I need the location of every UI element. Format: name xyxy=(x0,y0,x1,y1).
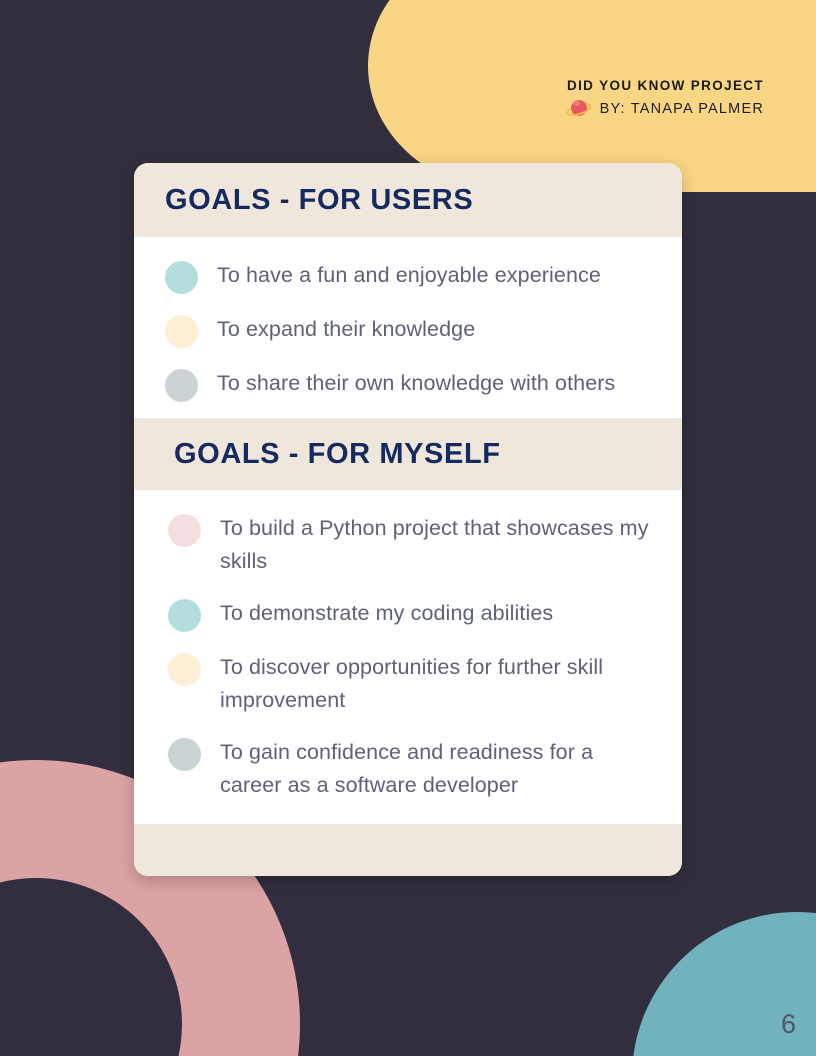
list-item: To expand their knowledge xyxy=(165,313,658,348)
list-item: To discover opportunities for further sk… xyxy=(168,651,658,717)
section-header-myself: GOALS - FOR MYSELF xyxy=(134,418,682,490)
slide-canvas: DID YOU KNOW PROJECT BY: TANAPA PALMER G… xyxy=(0,0,816,1056)
goal-text: To expand their knowledge xyxy=(217,313,475,346)
goal-text: To discover opportunities for further sk… xyxy=(220,651,658,717)
bullet-dot-icon xyxy=(168,514,201,547)
goal-text: To have a fun and enjoyable experience xyxy=(217,259,601,292)
bullet-dot-icon xyxy=(165,369,198,402)
project-title: DID YOU KNOW PROJECT xyxy=(566,76,764,96)
bullet-dot-icon xyxy=(165,261,198,294)
list-item: To build a Python project that showcases… xyxy=(168,512,658,578)
list-item: To have a fun and enjoyable experience xyxy=(165,259,658,294)
card-footer-band xyxy=(134,824,682,876)
list-item: To share their own knowledge with others xyxy=(165,367,658,402)
byline-row: BY: TANAPA PALMER xyxy=(566,98,764,120)
goal-text: To gain confidence and readiness for a c… xyxy=(220,736,658,802)
bullet-dot-icon xyxy=(168,599,201,632)
list-item: To gain confidence and readiness for a c… xyxy=(168,736,658,802)
goal-text: To build a Python project that showcases… xyxy=(220,512,658,578)
goal-list-users: To have a fun and enjoyable experience T… xyxy=(134,237,682,418)
section-header-users: GOALS - FOR USERS xyxy=(134,163,682,237)
goal-list-myself: To build a Python project that showcases… xyxy=(134,490,682,824)
header-credits: DID YOU KNOW PROJECT BY: TANAPA PALMER xyxy=(566,76,764,120)
page-number: 6 xyxy=(781,1011,796,1038)
goal-text: To share their own knowledge with others xyxy=(217,367,615,400)
goals-card: GOALS - FOR USERS To have a fun and enjo… xyxy=(134,163,682,876)
bullet-dot-icon xyxy=(168,738,201,771)
author-byline: BY: TANAPA PALMER xyxy=(600,99,764,119)
bullet-dot-icon xyxy=(165,315,198,348)
list-item: To demonstrate my coding abilities xyxy=(168,597,658,632)
goal-text: To demonstrate my coding abilities xyxy=(220,597,553,630)
planet-icon xyxy=(566,98,592,120)
bullet-dot-icon xyxy=(168,653,201,686)
